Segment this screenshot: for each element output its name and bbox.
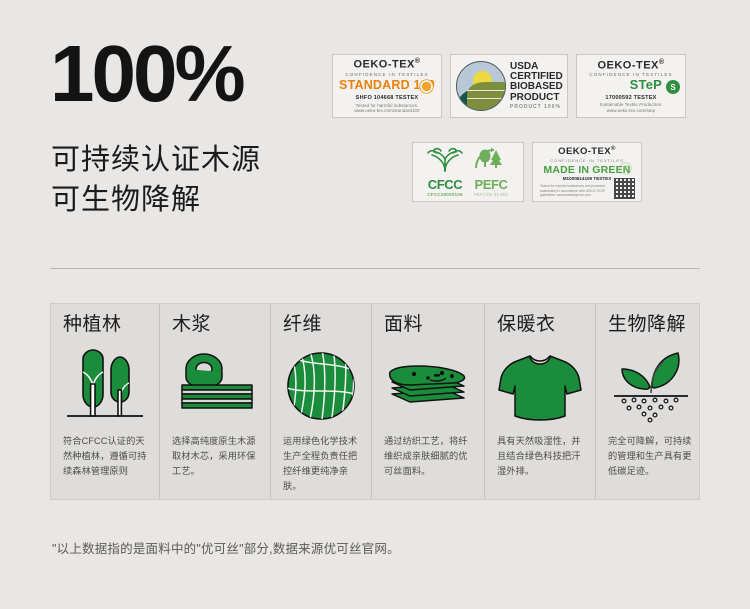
card-description: 符合CFCC认证的天然种植林，遵循可持续森林管理原则: [63, 434, 147, 479]
hero-subtitle-line-2: 可生物降解: [51, 180, 261, 220]
process-card-thermal-wear: 保暖衣 具有天然吸湿性，并且结合绿色科技把汗湿外排。: [485, 304, 596, 499]
qr-code-icon: [614, 178, 635, 199]
cfcc-name: CFCC: [425, 178, 465, 191]
badge-title: OEKO-TEX®: [537, 146, 637, 157]
card-title: 纤维: [283, 315, 359, 334]
hero-subtitle-line-1: 可持续认证木源: [51, 140, 261, 180]
badge-oeko-tex-standard-100: OEKO-TEX® CONFIDENCE IN TEXTILES STANDAR…: [332, 54, 442, 118]
pefc-block: PEFC PEFC/01-31-501: [471, 147, 511, 198]
cfcc-code: CFCC28000105: [425, 192, 465, 197]
usda-line-4: PRODUCT: [510, 93, 563, 103]
badge-oeko-tex-step: OEKO-TEX® CONFIDENCE IN TEXTILES STeP 17…: [576, 54, 686, 118]
pefc-name: PEFC: [471, 178, 511, 191]
sun-icon: [418, 78, 435, 95]
pefc-code: PEFC/01-31-501: [471, 192, 511, 197]
field-shape: [467, 82, 506, 111]
fiber-icon: [283, 340, 359, 432]
process-card-fabric: 面料: [372, 304, 485, 499]
badge-confidence-line: CONFIDENCE IN TEXTILES: [338, 72, 436, 77]
fabric-icon: [384, 340, 472, 432]
pefc-trees-icon: [471, 147, 511, 173]
badge-title: OEKO-TEX®: [582, 59, 680, 72]
badge-oeko-tex-made-in-green: OEKO-TEX® CONFIDENCE IN TEXTILES MADE IN…: [532, 142, 642, 202]
certification-badge-row-bottom: CFCC CFCC28000105: [412, 142, 642, 202]
card-title: 木浆: [172, 315, 258, 334]
usda-landscape-icon: [456, 61, 506, 111]
card-description: 具有天然吸湿性，并且结合绿色科技把汗湿外排。: [497, 434, 583, 479]
page-title: 100%: [50, 36, 243, 112]
card-description: 通过纺织工艺，将纤维织成亲肤细腻的优可丝面料。: [384, 434, 472, 479]
card-description: 完全可降解，可持续的管理和生产具有更低碳足迹。: [608, 434, 694, 479]
step-badge-icon: S: [666, 80, 680, 94]
badge-cfcc-pefc: CFCC CFCC28000105: [412, 142, 524, 202]
badge-certificate-number: SHFO 104668 TESTEX: [338, 95, 436, 101]
green-leaf-mark-icon: [618, 162, 633, 175]
usda-product-percent: PRODUCT 100%: [510, 105, 563, 110]
card-description: 运用绿色化学技术生产全程负责任把控纤维更纯净亲肤。: [283, 434, 359, 494]
sprout-decompose-icon: [608, 340, 694, 432]
process-card-wood-pulp: 木浆 选择高纯度原生木源取材木芯，采用环保工艺。: [160, 304, 271, 499]
card-title: 面料: [384, 315, 472, 334]
cfcc-leaf-icon: [425, 147, 465, 173]
section-divider: [50, 268, 700, 269]
card-description: 选择高纯度原生木源取材木芯，采用环保工艺。: [172, 434, 258, 479]
hero-subtitle: 可持续认证木源 可生物降解: [51, 140, 261, 220]
badge-certificate-number: 17000592 TESTEX: [582, 95, 680, 101]
certification-badge-row-top: OEKO-TEX® CONFIDENCE IN TEXTILES STANDAR…: [332, 54, 686, 118]
card-title: 保暖衣: [497, 315, 583, 334]
badge-title: OEKO-TEX®: [338, 58, 436, 71]
sweater-icon: [497, 340, 583, 432]
card-title: 生物降解: [608, 315, 694, 334]
footnote-text: "以上数据指的是面料中的"优可丝"部分,数据来源优可丝官网。: [52, 538, 400, 557]
card-title: 种植林: [63, 315, 147, 334]
badge-url: www.oeko-tex.com/standard100: [338, 109, 436, 114]
badge-usda-certified-biobased: USDA CERTIFIED BIOBASED PRODUCT PRODUCT …: [450, 54, 568, 118]
promotional-infographic-page: 100% 可持续认证木源 可生物降解 OEKO-TEX® CONFIDENCE …: [0, 0, 750, 609]
process-card-fiber: 纤维: [271, 304, 372, 499]
cfcc-block: CFCC CFCC28000105: [425, 147, 465, 198]
process-card-plantation: 种植林 符合CFCC认证的天然种植林，遵循可持续森林管理原则: [51, 304, 160, 499]
process-card-grid: 种植林 符合CFCC认证的天然种植林，遵循可持续森林管理原则: [50, 303, 700, 500]
wood-pulp-icon: [172, 340, 258, 432]
trees-icon: [63, 340, 147, 432]
badge-url: www.oeko-tex.com/step: [582, 109, 680, 114]
process-card-biodegradable: 生物降解: [596, 304, 706, 499]
